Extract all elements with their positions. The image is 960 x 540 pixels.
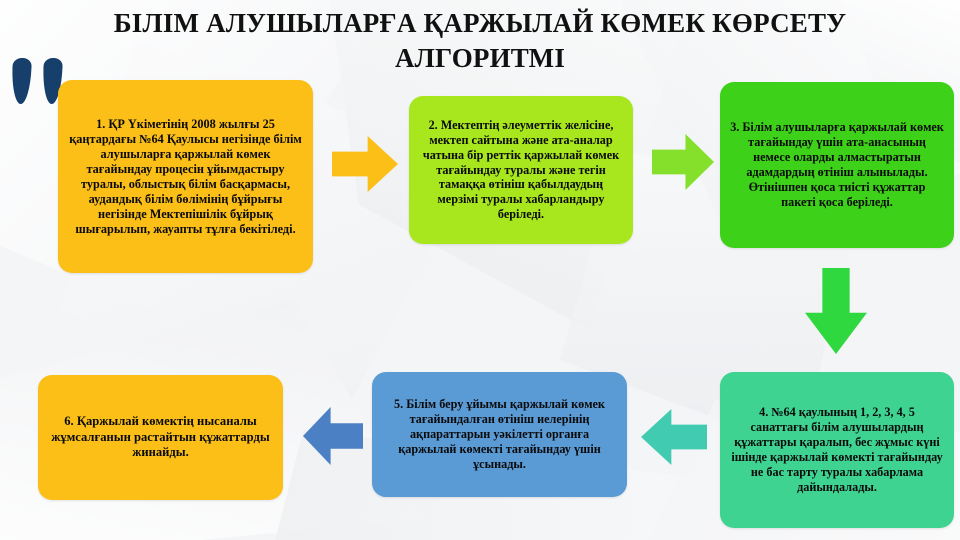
page-title: БІЛІМ АЛУШЫЛАРҒА ҚАРЖЫЛАЙ КӨМЕК КӨРСЕТУ … xyxy=(40,6,920,75)
process-step-3-text: 3. Білім алушыларға қаржылай көмек тағай… xyxy=(730,120,944,209)
arrow-right-icon xyxy=(652,134,714,190)
arrow-left-icon xyxy=(303,407,363,465)
arrow-right-icon xyxy=(332,136,398,192)
arrow-down-icon xyxy=(805,268,867,354)
process-step-1-text: 1. ҚР Үкіметінің 2008 жылғы 25 қаңтардағ… xyxy=(68,117,303,237)
arrow-left-icon xyxy=(641,409,707,465)
process-step-1[interactable]: 1. ҚР Үкіметінің 2008 жылғы 25 қаңтардағ… xyxy=(58,80,313,273)
process-step-4-text: 4. №64 қаулының 1, 2, 3, 4, 5 санаттағы … xyxy=(730,405,944,494)
process-step-2[interactable]: 2. Мектептің әлеуметтік желісіне, мектеп… xyxy=(409,96,633,244)
process-step-5[interactable]: 5. Білім беру ұйымы қаржылай көмек тағай… xyxy=(372,372,627,497)
process-step-4[interactable]: 4. №64 қаулының 1, 2, 3, 4, 5 санаттағы … xyxy=(720,372,954,528)
process-step-3[interactable]: 3. Білім алушыларға қаржылай көмек тағай… xyxy=(720,82,954,248)
process-step-6-text: 6. Қаржылай көмектің нысаналы жұмсалғаны… xyxy=(48,414,273,460)
quotation-mark-icon xyxy=(11,58,32,104)
process-step-2-text: 2. Мектептің әлеуметтік желісіне, мектеп… xyxy=(419,118,623,222)
slide-canvas: БІЛІМ АЛУШЫЛАРҒА ҚАРЖЫЛАЙ КӨМЕК КӨРСЕТУ … xyxy=(0,0,960,540)
process-step-6[interactable]: 6. Қаржылай көмектің нысаналы жұмсалғаны… xyxy=(38,375,283,500)
process-step-5-text: 5. Білім беру ұйымы қаржылай көмек тағай… xyxy=(382,397,617,471)
